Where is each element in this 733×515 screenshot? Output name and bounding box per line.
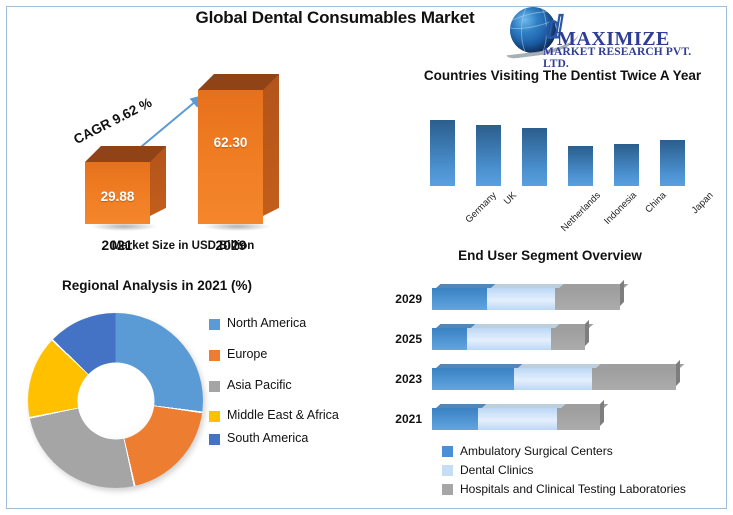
legend-item-hospitals-clinical-testing-laboratories: Hospitals and Clinical Testing Laborator… <box>442 482 730 496</box>
legend-label: Dental Clinics <box>460 463 533 477</box>
bar-side-face <box>263 74 279 216</box>
stacked-chart-title: End User Segment Overview <box>400 248 700 263</box>
stacked-category-2029: 2029 <box>388 288 422 310</box>
legend-label: Asia Pacific <box>227 378 292 393</box>
country-label-japan: Japan <box>690 190 716 216</box>
segment-ambulatory-surgical-centers <box>432 288 487 310</box>
country-bar-netherlands <box>522 128 547 186</box>
segment-dental-clinics <box>478 408 557 430</box>
country-bar-uk <box>476 125 501 186</box>
countries-dentist-chart: Countries Visiting The Dentist Twice A Y… <box>400 62 725 242</box>
legend-swatch-icon <box>442 446 453 457</box>
bar-value-label: 29.88 <box>85 189 150 204</box>
stacked-legend: Ambulatory Surgical Centers Dental Clini… <box>442 444 730 501</box>
segment-hospitals-clinical-testing-laboratories <box>551 328 585 350</box>
column-bar-2021: 29.88 <box>85 162 150 224</box>
cagr-arrow-icon <box>30 62 360 257</box>
legend-item-south-america: South America <box>209 431 359 446</box>
segment-dental-clinics <box>487 288 555 310</box>
segment-hospitals-clinical-testing-laboratories <box>555 288 620 310</box>
legend-label: South America <box>227 431 308 446</box>
legend-item-ambulatory-surgical-centers: Ambulatory Surgical Centers <box>442 444 730 458</box>
legend-label: Ambulatory Surgical Centers <box>460 444 613 458</box>
stacked-category-2021: 2021 <box>388 408 422 430</box>
legend-label: Hospitals and Clinical Testing Laborator… <box>460 482 686 496</box>
country-label-netherlands: Netherlands <box>559 190 603 234</box>
legend-swatch-icon <box>209 434 220 445</box>
column-axis-title: Market Size in USD Billion <box>58 240 308 252</box>
legend-item-north-america: North America <box>209 316 359 331</box>
stacked-row-2025 <box>432 328 692 350</box>
legend-swatch-icon <box>209 319 220 330</box>
legend-item-asia-pacific: Asia Pacific <box>209 378 359 393</box>
legend-swatch-icon <box>209 381 220 392</box>
segment-ambulatory-surgical-centers <box>432 408 478 430</box>
legend-label: Middle East & Africa <box>227 408 339 423</box>
legend-item-middle-east-africa: Middle East & Africa <box>209 408 359 423</box>
market-size-column-chart: CAGR 9.62 % 29.88 2021 62.30 2029 Market… <box>30 62 360 257</box>
segment-hospitals-clinical-testing-laboratories <box>592 368 676 390</box>
infographic-page: Global Dental Consumables Market ⅆ MAXIM… <box>0 0 733 515</box>
segment-ambulatory-surgical-centers <box>432 368 514 390</box>
bar-value-label: 62.30 <box>198 135 263 150</box>
segment-dental-clinics <box>467 328 551 350</box>
stacked-category-2023: 2023 <box>388 368 422 390</box>
bar-front-face <box>198 90 263 224</box>
donut-legend: North America Europe Asia Pacific Middle… <box>209 316 359 462</box>
country-label-germany: Germany <box>463 190 498 225</box>
donut-chart-title: Regional Analysis in 2021 (%) <box>22 278 292 293</box>
country-bar-germany <box>430 120 455 186</box>
legend-swatch-icon <box>209 411 220 422</box>
country-bar-indonesia <box>568 146 593 186</box>
legend-swatch-icon <box>209 350 220 361</box>
country-label-china: China <box>643 190 668 215</box>
segment-ambulatory-surgical-centers <box>432 328 467 350</box>
legend-item-dental-clinics: Dental Clinics <box>442 463 730 477</box>
stacked-row-2021 <box>432 408 692 430</box>
regional-analysis-chart: Regional Analysis in 2021 (%) North Amer… <box>12 278 357 510</box>
stacked-row-2029 <box>432 288 692 310</box>
country-bar-japan <box>660 140 685 186</box>
segment-dental-clinics <box>514 368 592 390</box>
stacked-category-2025: 2025 <box>388 328 422 350</box>
country-bar-china <box>614 144 639 186</box>
column-bar-2029: 62.30 <box>198 90 263 224</box>
legend-swatch-icon <box>442 465 453 476</box>
end-user-segment-chart: End User Segment Overview 2029 2025 <box>400 248 730 510</box>
legend-label: Europe <box>227 347 267 362</box>
page-title: Global Dental Consumables Market <box>150 8 520 28</box>
company-logo: ⅆ MAXIMIZE MARKET RESEARCH PVT. LTD. <box>505 6 720 58</box>
countries-chart-title: Countries Visiting The Dentist Twice A Y… <box>400 68 725 83</box>
segment-hospitals-clinical-testing-laboratories <box>557 408 600 430</box>
country-label-indonesia: Indonesia <box>602 190 639 227</box>
donut-ring <box>28 313 203 488</box>
stacked-row-2023 <box>432 368 712 390</box>
legend-swatch-icon <box>442 484 453 495</box>
legend-item-europe: Europe <box>209 347 359 362</box>
donut-center-hole <box>77 362 154 439</box>
legend-label: North America <box>227 316 306 331</box>
country-label-uk: UK <box>502 190 519 207</box>
